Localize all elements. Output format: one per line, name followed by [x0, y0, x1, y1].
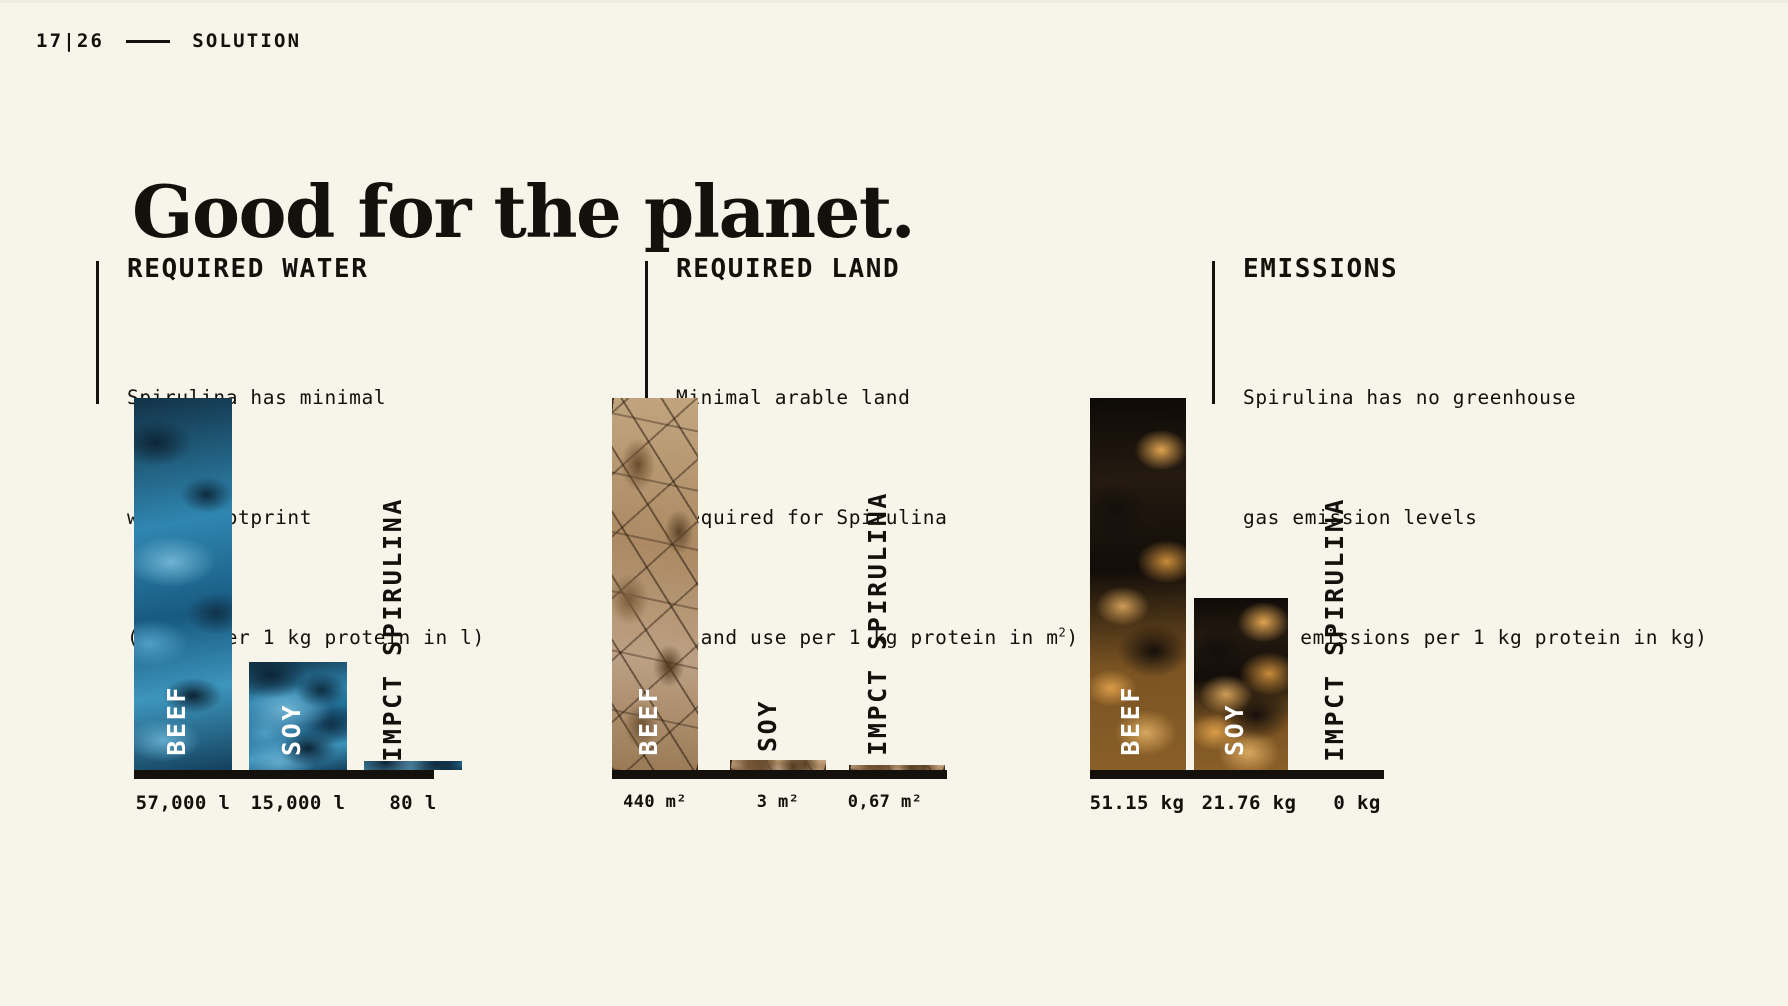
bar-soy: SOY: [1194, 598, 1288, 770]
bar-label-spirulina: IMPCT SPIRULINA: [1322, 497, 1347, 762]
bar-soy: SOY: [249, 662, 347, 770]
bar-spirulina: [364, 761, 462, 770]
kicker-divider-rule: [126, 40, 170, 43]
chart-value-labels: 57,000 l 15,000 l 80 l: [134, 792, 554, 832]
value-label-beef: 51.15 kg: [1082, 792, 1192, 814]
chart-plot-area: BEEF SOY IMPCT SPIRULINA: [134, 398, 554, 770]
value-label-spirulina: 0 kg: [1302, 792, 1412, 814]
bar-label-soy: SOY: [279, 703, 304, 756]
bar-label-spirulina: IMPCT SPIRULINA: [865, 491, 890, 756]
bar-label-beef: BEEF: [636, 685, 661, 756]
chart-baseline: [134, 770, 434, 779]
page-indicator: 17|26: [36, 30, 104, 52]
page-title: Good for the planet.: [132, 176, 914, 248]
chart-emissions: BEEF SOY IMPCT SPIRULINA 51.15 kg 21.76 …: [1090, 398, 1510, 832]
bar-beef: BEEF: [134, 398, 232, 770]
top-edge-rule: [0, 0, 1788, 3]
bar-label-spirulina: IMPCT SPIRULINA: [380, 497, 405, 762]
chart-plot-area: BEEF SOY IMPCT SPIRULINA: [612, 398, 1032, 770]
chart-plot-area: BEEF SOY IMPCT SPIRULINA: [1090, 398, 1510, 770]
value-label-beef: 57,000 l: [130, 792, 236, 814]
chart-required-land: BEEF SOY IMPCT SPIRULINA 440 m² 3 m² 0,6…: [612, 398, 1032, 832]
section-label: SOLUTION: [192, 30, 301, 52]
value-label-soy: 15,000 l: [245, 792, 351, 814]
chart-value-labels: 51.15 kg 21.76 kg 0 kg: [1090, 792, 1510, 832]
column-heading-emissions: EMISSIONS: [1243, 255, 1776, 284]
bar-label-beef: BEEF: [164, 685, 189, 756]
column-heading-water: REQUIRED WATER: [127, 255, 636, 284]
bar-soy: [730, 760, 826, 770]
bar-label-soy: SOY: [755, 699, 780, 752]
column-heading-land: REQUIRED LAND: [676, 255, 1185, 284]
value-label-soy: 3 m²: [725, 792, 831, 812]
chart-baseline: [612, 770, 947, 779]
value-label-soy: 21.76 kg: [1194, 792, 1304, 814]
bar-beef: BEEF: [612, 398, 698, 770]
chart-value-labels: 440 m² 3 m² 0,67 m²: [612, 792, 1032, 832]
column-rule: [96, 261, 99, 404]
bar-label-beef: BEEF: [1118, 685, 1143, 756]
column-rule: [1212, 261, 1215, 404]
column-rule: [645, 261, 648, 404]
chart-required-water: BEEF SOY IMPCT SPIRULINA 57,000 l 15,000…: [134, 398, 554, 832]
slide-kicker: 17|26 SOLUTION: [36, 30, 301, 52]
desc-line-3-b: ): [1066, 626, 1078, 649]
chart-baseline: [1090, 770, 1384, 779]
value-label-spirulina: 80 l: [360, 792, 466, 814]
value-label-spirulina: 0,67 m²: [832, 792, 938, 812]
value-label-beef: 440 m²: [602, 792, 708, 812]
bar-beef: BEEF: [1090, 398, 1186, 770]
bar-label-soy: SOY: [1222, 703, 1247, 756]
